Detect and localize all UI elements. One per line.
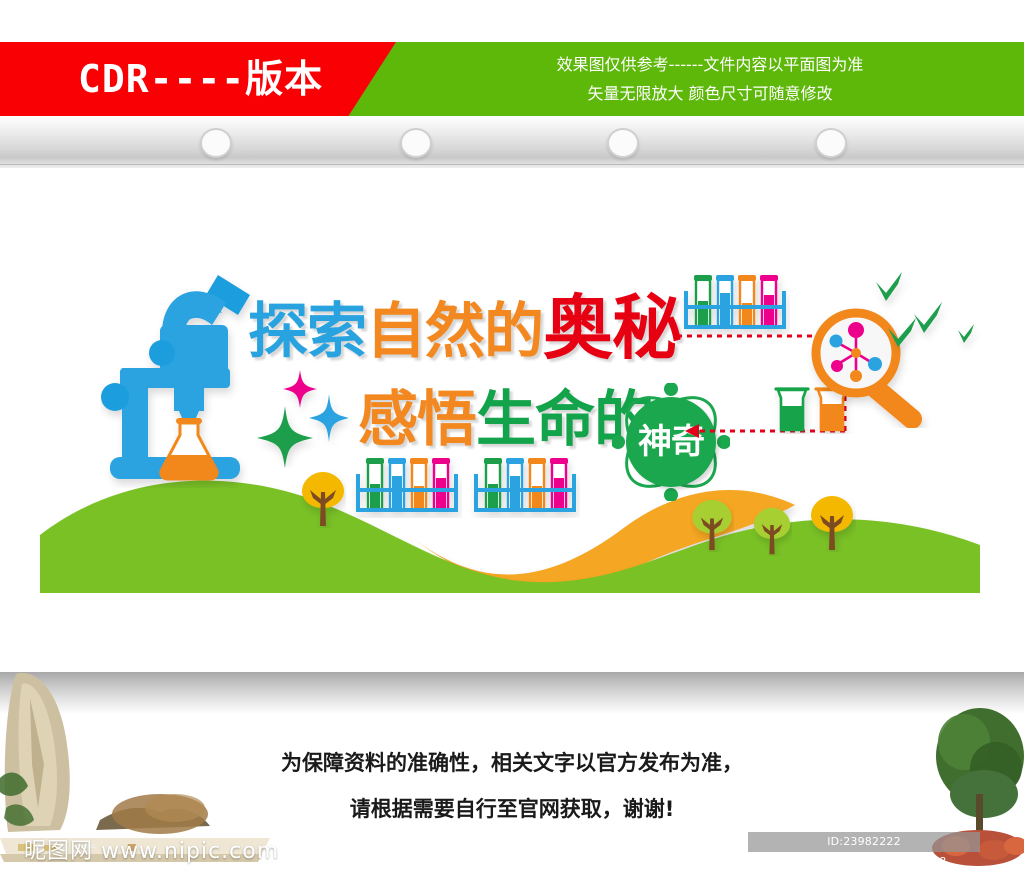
version-label: CDR----版本 — [78, 49, 378, 109]
test-tube-rack-icon — [352, 456, 462, 518]
headline-2-seg-1: 感悟 — [358, 385, 476, 455]
banner-note-line-2: 矢量无限放大 颜色尺寸可随意修改 — [396, 79, 1024, 108]
tree-icon — [300, 470, 346, 528]
rail-divider — [0, 164, 1024, 165]
headline-line-1: 探索自然的奥秘 — [248, 298, 681, 362]
banner-notes: 效果图仅供参考------文件内容以平面图为准 矢量无限放大 颜色尺寸可随意修改 — [396, 50, 1024, 108]
hanger-rail — [0, 116, 1024, 168]
top-banner: CDR----版本 效果图仅供参考------文件内容以平面图为准 矢量无限放大… — [0, 42, 1024, 116]
headline-line-2: 感悟生命的 — [358, 390, 653, 450]
bird-flock-icon — [870, 268, 1000, 358]
test-tube-rack-icon — [680, 273, 790, 335]
headline-1-seg-1: 探索 — [248, 297, 366, 367]
rail-hole-icon — [815, 128, 847, 158]
footer-disclaimer: 为保障资料的准确性，相关文字以官方发布为准， 请根据需要自行至官网获取，谢谢! — [0, 740, 1024, 832]
rail-hole-icon — [400, 128, 432, 158]
rail-hole-icon — [200, 128, 232, 158]
footer-line-1: 为保障资料的准确性，相关文字以官方发布为准， — [0, 740, 1024, 786]
site-watermark: 昵图网 www.nipic.com — [24, 833, 279, 865]
tree-icon — [690, 498, 734, 552]
microscope-icon — [100, 273, 265, 488]
arrow-head-icon — [685, 424, 699, 438]
sparkle-cluster-icon — [255, 368, 355, 468]
rail-hole-icon — [607, 128, 639, 158]
wall-design-artwork: 探索自然的奥秘 感悟生命的 神奇 — [0, 168, 1024, 658]
banner-note-line-1: 效果图仅供参考------文件内容以平面图为准 — [396, 50, 1024, 79]
headline-1-seg-2: 自然的 — [366, 297, 543, 367]
test-tube-rack-icon — [470, 456, 580, 518]
tree-icon — [752, 506, 792, 556]
asset-id-badge: ID:23982222 NO:20260409201415032108 — [748, 832, 980, 852]
tree-icon — [808, 494, 856, 552]
footer-line-2: 请根据需要自行至官网获取，谢谢! — [0, 786, 1024, 832]
